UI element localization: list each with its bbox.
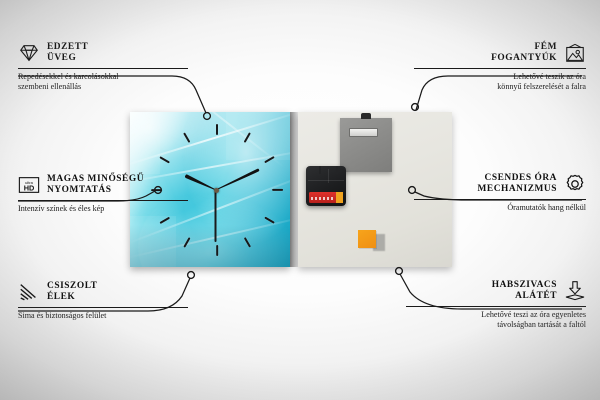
feature-rule: [18, 307, 188, 308]
mechanism-seam: [328, 169, 329, 183]
feature-heading: FÉM FOGANTYÚK: [414, 42, 586, 65]
hour-marker: [159, 217, 170, 224]
feature-title: HABSZIVACS ALÁTÉT: [492, 280, 557, 303]
svg-text:HD: HD: [24, 184, 35, 193]
infographic-canvas: EDZETT ÜVEG Repedésekkel és karcolásokka…: [0, 0, 600, 400]
metal-hanger-bracket: [340, 118, 392, 172]
quartz-mechanism: [306, 166, 346, 206]
battery: [309, 192, 343, 203]
feature-subtitle: távolságban tartását a faltól: [406, 320, 586, 330]
battery-label: [311, 197, 335, 200]
feature-subtitle: Lehetővé teszik az óra: [414, 72, 586, 82]
hour-marker: [264, 156, 275, 163]
feature-title: EDZETT ÜVEG: [47, 42, 88, 65]
feature-subtitle: könnyű felszerelését a falra: [414, 82, 586, 92]
feature-rule: [414, 199, 586, 200]
ultra-hd-icon: ultra HD: [18, 174, 40, 196]
feature-heading: EDZETT ÜVEG: [18, 42, 188, 65]
feature-subtitle: Repedésekkel és karcolásokkal: [18, 72, 188, 82]
mechanism-seam: [308, 180, 344, 181]
second-hand: [215, 190, 217, 242]
panel-gap-shadow: [290, 112, 298, 267]
hand-cap: [214, 188, 219, 193]
feature-subtitle: Sima és biztonságos felület: [18, 311, 188, 321]
feature-rule: [18, 68, 188, 69]
foam-pad: [358, 230, 376, 248]
hour-marker: [183, 237, 190, 248]
bracket-slot: [349, 128, 378, 137]
hour-marker: [183, 132, 190, 143]
feature-subtitle: Lehetővé teszi az óra egyenletes: [406, 310, 586, 320]
feature-subtitle: szembeni ellenállás: [18, 82, 188, 92]
hour-marker: [244, 237, 251, 248]
hour-marker: [216, 124, 218, 135]
feature-heading: CSISZOLT ÉLEK: [18, 281, 188, 304]
feature-title: CSISZOLT ÉLEK: [47, 281, 97, 304]
connector-endpoint: [396, 268, 403, 275]
feature-rule: [406, 306, 586, 307]
feature-silent-mechanism: CSENDES ÓRA MECHANIZMUS Óramutatók hang …: [414, 173, 586, 213]
connector-endpoint: [412, 104, 419, 111]
feature-polished-edges: CSISZOLT ÉLEK Sima és biztonságos felüle…: [18, 281, 188, 321]
picture-hanger-icon: [564, 42, 586, 64]
feature-subtitle: Intenzív színek és éles kép: [18, 204, 188, 214]
feature-title: CSENDES ÓRA MECHANIZMUS: [478, 173, 558, 196]
feature-tempered-glass: EDZETT ÜVEG Repedésekkel és karcolásokka…: [18, 42, 188, 92]
battery-cap: [336, 192, 343, 203]
connector-endpoint: [188, 272, 195, 279]
feature-rule: [18, 200, 188, 201]
hour-marker: [244, 132, 251, 143]
feature-subtitle: Óramutatók hang nélkül: [414, 203, 586, 213]
hour-marker: [159, 156, 170, 163]
feature-heading: HABSZIVACS ALÁTÉT: [406, 280, 586, 303]
diamond-icon: [18, 42, 40, 64]
bracket-nub: [361, 113, 371, 119]
feature-heading: CSENDES ÓRA MECHANIZMUS: [414, 173, 586, 196]
gear-icon: [564, 173, 586, 195]
foam-pad-arrow-icon: [564, 280, 586, 302]
hour-marker: [272, 189, 283, 191]
feature-title: MAGAS MINŐSÉGŰ NYOMTATÁS: [47, 174, 144, 197]
feature-foam-pad: HABSZIVACS ALÁTÉT Lehetővé teszi az óra …: [406, 280, 586, 330]
hour-hand: [184, 174, 217, 192]
feature-title: FÉM FOGANTYÚK: [491, 42, 557, 65]
feature-rule: [414, 68, 586, 69]
hour-marker: [216, 245, 218, 256]
hour-marker: [264, 217, 275, 224]
feature-metal-handles: FÉM FOGANTYÚK Lehetővé teszik az óra kön…: [414, 42, 586, 92]
minute-hand: [215, 168, 260, 191]
polished-edges-icon: [18, 281, 40, 303]
feature-heading: ultra HD MAGAS MINŐSÉGŰ NYOMTATÁS: [18, 174, 188, 197]
feature-high-quality-print: ultra HD MAGAS MINŐSÉGŰ NYOMTATÁS Intenz…: [18, 174, 188, 214]
